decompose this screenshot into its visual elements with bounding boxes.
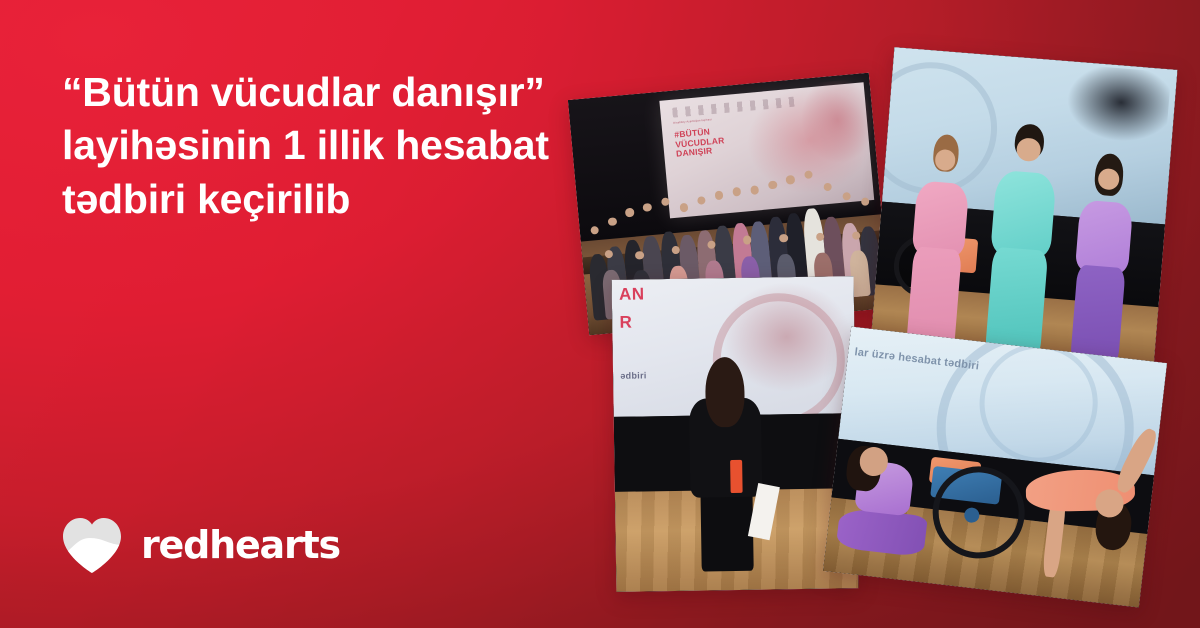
speaker-image: AN R ədbiri bbox=[612, 276, 859, 592]
headline-line-3: tədbiri keçirilib bbox=[62, 173, 582, 226]
speaker-photo: AN R ədbiri bbox=[612, 276, 859, 592]
screen-hashtag-line3: DANIŞIR bbox=[676, 145, 726, 159]
speaker-figure bbox=[688, 365, 764, 572]
trio-dancers-photo bbox=[871, 47, 1178, 367]
headline-line-2: layihəsinin 1 illik hesabat bbox=[62, 119, 582, 172]
screen-text-line2: R bbox=[619, 313, 632, 333]
screen-text-line1: AN bbox=[619, 285, 645, 305]
brand-name: redhearts bbox=[141, 526, 340, 564]
speaker-scene: AN R ədbiri bbox=[612, 276, 859, 592]
heart-icon bbox=[60, 516, 124, 574]
dancer-arched-coral bbox=[1008, 416, 1152, 587]
duo-dancers-photo: lar üzrə hesabat tədbiri bbox=[823, 327, 1167, 608]
speaker-hair bbox=[705, 357, 745, 428]
social-card-canvas: “Bütün vücudlar danışır” layihəsinin 1 i… bbox=[0, 0, 1200, 628]
page-title: “Bütün vücudlar danışır” layihəsinin 1 i… bbox=[62, 66, 582, 226]
headline-line-1: “Bütün vücudlar danışır” bbox=[62, 66, 582, 119]
screen-subtitle: Disability Azerbaijan layihəsi bbox=[673, 118, 712, 124]
screen-caption: lar üzrə hesabat tədbiri bbox=[854, 346, 980, 372]
screen-title-partial bbox=[856, 328, 862, 344]
dancer-seated-purple bbox=[832, 449, 938, 558]
trio-dancers-scene bbox=[871, 47, 1178, 367]
brand-logo[interactable]: redhearts bbox=[60, 516, 340, 574]
screen-hashtag: #BÜTÜN VÜCUDLAR DANIŞIR bbox=[674, 126, 726, 159]
screen-text-line3: ədbiri bbox=[620, 370, 646, 380]
duo-dancers-image: lar üzrə hesabat tədbiri bbox=[823, 327, 1167, 608]
lanyard-badge bbox=[730, 460, 742, 493]
trio-dancers-image bbox=[871, 47, 1178, 367]
duo-dancers-scene: lar üzrə hesabat tədbiri bbox=[823, 327, 1167, 608]
